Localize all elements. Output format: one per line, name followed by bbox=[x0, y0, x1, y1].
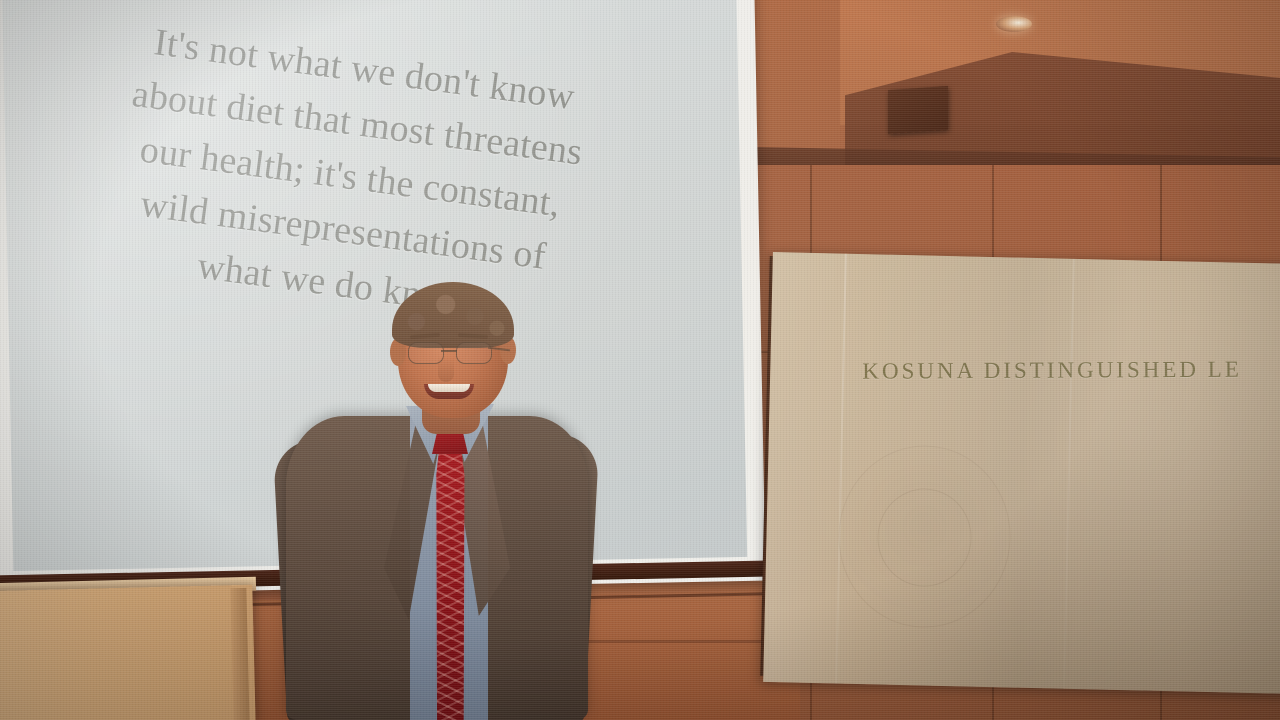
slide-line-3: our health; it's the constant, bbox=[29, 109, 671, 246]
lectern bbox=[0, 585, 256, 720]
glasses-lens-right bbox=[456, 342, 492, 364]
wall-speaker-icon bbox=[888, 86, 948, 134]
presenter-mouth bbox=[424, 384, 474, 399]
slide-line-2: about diet that most threatens bbox=[36, 56, 678, 193]
slide-line-1: It's not what we don't know bbox=[43, 2, 685, 139]
presenter-teeth bbox=[428, 384, 470, 392]
banner-title: KOSUNA DISTINGUISHED LE bbox=[862, 356, 1280, 384]
recessed-downlight-icon bbox=[996, 16, 1032, 32]
glasses-bridge bbox=[441, 350, 457, 352]
kosuna-banner: KOSUNA DISTINGUISHED LE bbox=[763, 252, 1280, 694]
lectern-side-edge bbox=[230, 588, 249, 720]
presenter-necktie bbox=[432, 428, 468, 720]
presenter bbox=[280, 280, 600, 720]
banner-seal-icon bbox=[836, 444, 1012, 630]
presenter-nose bbox=[438, 356, 454, 382]
lecture-photo: It's not what we don't know about diet t… bbox=[0, 0, 1280, 720]
